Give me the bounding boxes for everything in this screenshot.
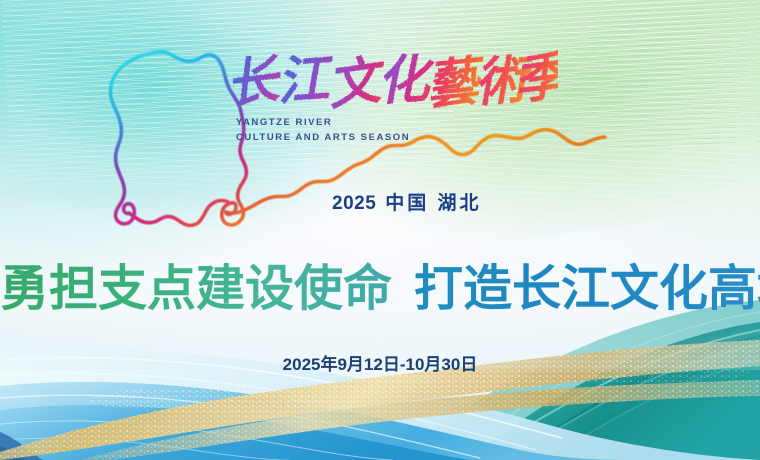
edition-year: 2025 <box>332 193 376 214</box>
calligraphy-char-7: 季 <box>510 45 558 112</box>
edition-location: 中国 湖北 <box>385 193 481 214</box>
calligraphy-title-art: 长 江 文 化 藝 術 季 <box>228 44 558 122</box>
english-subtitle: YANGTZE RIVER CULTURE AND ARTS SEASON <box>236 116 410 145</box>
headline-left: 勇担支点建设使命 <box>0 262 392 316</box>
page-title: 勇担支点建设使命打造长江文化高地 <box>0 258 760 320</box>
poster-canvas: 长 江 文 化 藝 術 季 YANGTZE RIVER CULTURE AND … <box>0 0 760 460</box>
river-wave-band <box>0 300 760 460</box>
calligraphy-title: 长 江 文 化 藝 術 季 <box>228 44 558 122</box>
edition-line: 2025中国 湖北 <box>332 188 482 215</box>
event-date-range: 2025年9月12日-10月30日 <box>0 350 760 375</box>
headline-right: 打造长江文化高地 <box>414 262 760 316</box>
